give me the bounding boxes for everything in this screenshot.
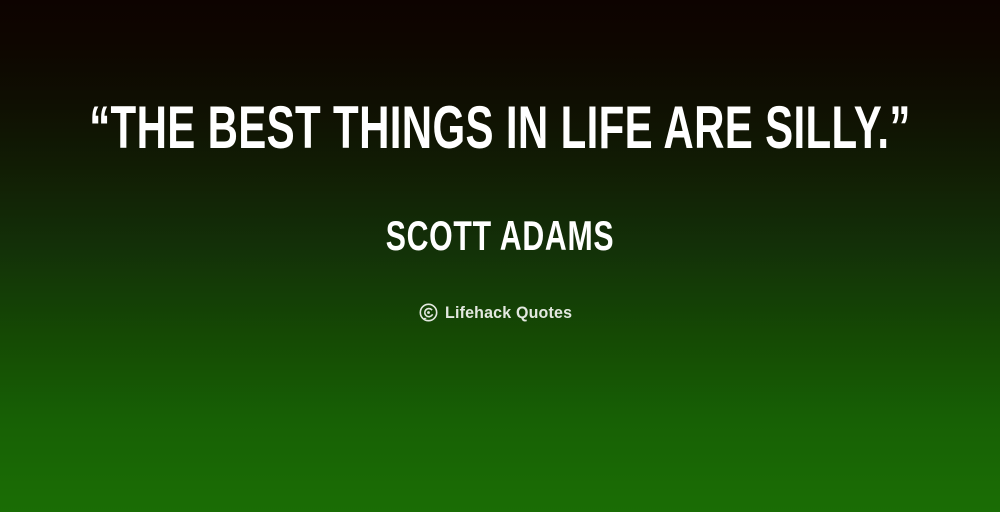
quote-text: “THE BEST THINGS IN LIFE ARE SILLY.” xyxy=(150,96,850,160)
brand-lockup: Lifehack Quotes xyxy=(0,300,1000,324)
quote-author: SCOTT ADAMS xyxy=(140,214,860,258)
lifehack-logo-icon xyxy=(419,303,438,322)
quote-card: “THE BEST THINGS IN LIFE ARE SILLY.” SCO… xyxy=(0,0,1000,512)
brand-name: Lifehack Quotes xyxy=(445,304,572,321)
